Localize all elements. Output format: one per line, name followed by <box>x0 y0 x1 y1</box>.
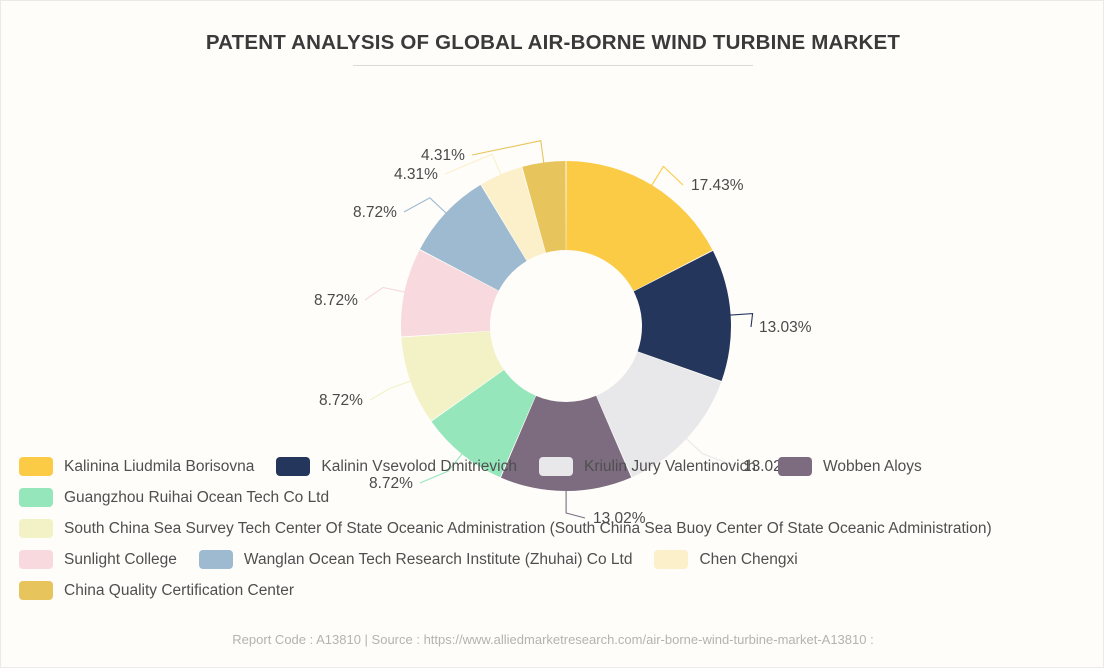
legend-item[interactable]: Sunlight College <box>19 550 177 569</box>
legend-swatch-icon <box>276 457 310 476</box>
legend-item-label: Wobben Aloys <box>823 459 922 475</box>
legend-row: Guangzhou Ruihai Ocean Tech Co Ltd <box>19 482 1089 513</box>
legend-swatch-icon <box>539 457 573 476</box>
legend-item-label: Kalinin Vsevolod Dmitrievich <box>321 459 517 475</box>
legend-item[interactable]: Chen Chengxi <box>654 550 797 569</box>
legend-item[interactable]: South China Sea Survey Tech Center Of St… <box>19 519 992 538</box>
legend-item[interactable]: Wobben Aloys <box>778 457 922 476</box>
legend-swatch-icon <box>19 457 53 476</box>
legend-item-label: Kalinina Liudmila Borisovna <box>64 459 254 475</box>
legend-item[interactable]: Kriulin Jury Valentinovich <box>539 457 756 476</box>
legend-item-label: Sunlight College <box>64 552 177 568</box>
pie-value-label: 17.43% <box>691 177 744 194</box>
legend-item[interactable]: Kalinin Vsevolod Dmitrievich <box>276 457 517 476</box>
footer-source-text: Report Code : A13810 | Source : https://… <box>232 632 873 647</box>
legend-row: Sunlight CollegeWanglan Ocean Tech Resea… <box>19 544 1089 575</box>
legend-item-label: Guangzhou Ruihai Ocean Tech Co Ltd <box>64 490 329 506</box>
legend: Kalinina Liudmila BorisovnaKalinin Vsevo… <box>19 451 1089 606</box>
legend-item-label: South China Sea Survey Tech Center Of St… <box>64 521 992 537</box>
legend-row: Kalinina Liudmila BorisovnaKalinin Vsevo… <box>19 451 1089 482</box>
legend-row: South China Sea Survey Tech Center Of St… <box>19 513 1089 544</box>
leader-line <box>370 380 412 400</box>
leader-line <box>472 141 544 165</box>
legend-item-label: Wanglan Ocean Tech Research Institute (Z… <box>244 552 633 568</box>
legend-row: China Quality Certification Center <box>19 575 1089 606</box>
leader-line <box>729 314 753 327</box>
legend-swatch-icon <box>654 550 688 569</box>
pie-value-label: 8.72% <box>353 204 397 221</box>
pie-value-label: 4.31% <box>394 166 438 183</box>
footer: Report Code : A13810 | Source : https://… <box>1 629 1104 648</box>
legend-item[interactable]: Guangzhou Ruihai Ocean Tech Co Ltd <box>19 488 329 507</box>
legend-swatch-icon <box>778 457 812 476</box>
legend-swatch-icon <box>199 550 233 569</box>
legend-item-label: Kriulin Jury Valentinovich <box>584 459 756 475</box>
legend-item[interactable]: Wanglan Ocean Tech Research Institute (Z… <box>199 550 633 569</box>
chart-card: PATENT ANALYSIS OF GLOBAL AIR-BORNE WIND… <box>0 0 1104 668</box>
leader-line <box>651 166 683 186</box>
pie-value-label: 8.72% <box>319 392 363 409</box>
pie-value-label: 4.31% <box>421 147 465 164</box>
leader-line <box>404 198 447 214</box>
legend-swatch-icon <box>19 581 53 600</box>
legend-swatch-icon <box>19 519 53 538</box>
leader-line <box>365 288 406 300</box>
pie-value-label: 13.03% <box>759 319 812 336</box>
legend-swatch-icon <box>19 550 53 569</box>
legend-item[interactable]: Kalinina Liudmila Borisovna <box>19 457 254 476</box>
legend-item-label: China Quality Certification Center <box>64 583 294 599</box>
legend-item-label: Chen Chengxi <box>699 552 797 568</box>
pie-slices <box>401 161 731 491</box>
legend-swatch-icon <box>19 488 53 507</box>
pie-value-label: 8.72% <box>314 292 358 309</box>
legend-item[interactable]: China Quality Certification Center <box>19 581 294 600</box>
